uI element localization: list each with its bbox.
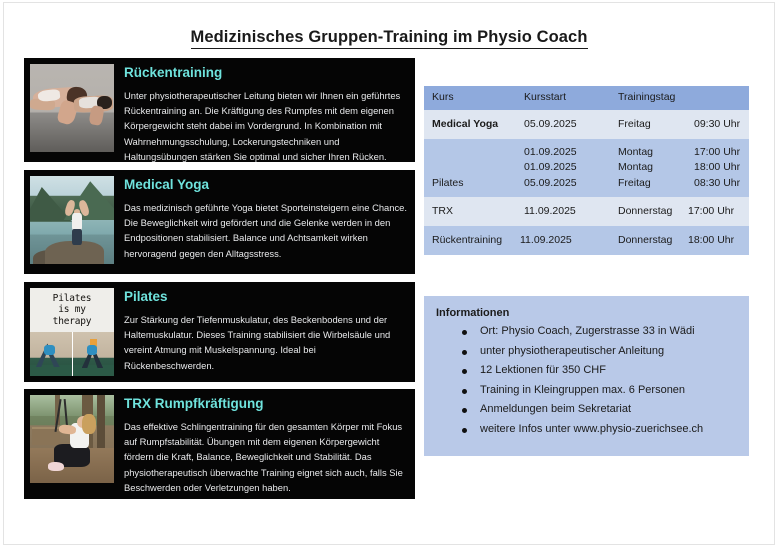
course-description-pilates: Zur Stärkung der Tiefenmuskulatur, des B…	[124, 312, 407, 373]
cell-trainingstag: Donnerstag	[610, 197, 686, 226]
pilates-pose-left	[30, 332, 73, 376]
cell-trainingstag: Donnerstag	[610, 226, 686, 255]
trx-outdoor-training-photo	[30, 395, 114, 483]
cell-kursstart-line: 01.09.2025	[524, 145, 610, 160]
cell-kurs: Rückentraining	[424, 226, 516, 255]
course-schedule-table: Kurs Kursstart Trainingstag Medical Yoga…	[424, 86, 749, 255]
table-header-row: Kurs Kursstart Trainingstag	[424, 86, 749, 110]
table-row: Rückentraining 11.09.2025 Donnerstag 18:…	[424, 226, 749, 255]
course-title-trx: TRX Rumpfkräftigung	[124, 397, 407, 412]
information-list: Ort: Physio Coach, Zugerstrasse 33 in Wä…	[436, 326, 739, 435]
cell-uhrzeit: 17:00 Uhr 18:00 Uhr 08:30 Uhr	[686, 139, 749, 197]
course-card-body: Pilates Zur Stärkung der Tiefenmuskulatu…	[124, 288, 407, 373]
cell-trainingstag: Montag Montag Freitag	[610, 139, 686, 197]
column-header-kursstart: Kursstart	[516, 86, 610, 110]
information-box-title: Informationen	[436, 307, 739, 319]
cell-trainingstag-line: Montag	[618, 145, 686, 160]
cell-uhrzeit: 09:30 Uhr	[686, 110, 749, 139]
course-description-medical-yoga: Das medizinisch geführte Yoga bietet Spo…	[124, 200, 407, 261]
photo-caption-line-3: therapy	[53, 316, 92, 327]
table-row: Pilates 01.09.2025 01.09.2025 05.09.2025…	[424, 139, 749, 197]
cell-trainingstag-line: Montag	[618, 160, 686, 175]
photo-caption-line-2: is my	[58, 304, 86, 315]
pilates-pose-right	[73, 332, 115, 376]
course-card-trx: TRX Rumpfkräftigung Das effektive Schlin…	[24, 389, 415, 499]
cell-kursstart: 05.09.2025	[516, 110, 610, 139]
list-item: Training in Kleingruppen max. 6 Personen	[462, 385, 739, 396]
cell-kursstart: 11.09.2025	[516, 197, 610, 226]
list-item: unter physiotherapeutischer Anleitung	[462, 346, 739, 357]
course-description-rueckentraining: Unter physiotherapeutischer Leitung biet…	[124, 88, 407, 164]
cell-kursstart: 01.09.2025 01.09.2025 05.09.2025	[516, 139, 610, 197]
cell-kurs: TRX	[424, 197, 516, 226]
course-card-rueckentraining: Rückentraining Unter physiotherapeutisch…	[24, 58, 415, 162]
page-title: Medizinisches Gruppen-Training im Physio…	[0, 28, 778, 47]
photo-caption: Pilates is my therapy	[30, 288, 114, 332]
column-header-kurs: Kurs	[424, 86, 516, 110]
cell-kurs: Medical Yoga	[424, 110, 516, 139]
cell-uhrzeit-line: 08:30 Uhr	[694, 176, 749, 191]
yoga-tree-pose-lake-photo	[30, 176, 114, 264]
cell-uhrzeit: 18:00 Uhr	[686, 226, 749, 255]
course-card-body: Medical Yoga Das medizinisch geführte Yo…	[124, 176, 407, 261]
cell-kursstart-line: 05.09.2025	[524, 176, 610, 191]
cell-uhrzeit-line: 17:00 Uhr	[694, 145, 749, 160]
course-card-body: Rückentraining Unter physiotherapeutisch…	[124, 64, 407, 164]
list-item: Ort: Physio Coach, Zugerstrasse 33 in Wä…	[462, 326, 739, 337]
cell-kursstart: 11.09.2025	[516, 226, 610, 255]
cell-kursstart-line: 01.09.2025	[524, 160, 610, 175]
cell-kurs: Pilates	[424, 139, 516, 197]
course-title-pilates: Pilates	[124, 290, 407, 305]
course-description-trx: Das effektive Schlingentraining für den …	[124, 419, 407, 495]
list-item: weitere Infos unter www.physio-zuerichse…	[462, 424, 739, 435]
flyer-page: Medizinisches Gruppen-Training im Physio…	[0, 0, 778, 547]
cell-uhrzeit-line: 18:00 Uhr	[694, 160, 749, 175]
page-title-text: Medizinisches Gruppen-Training im Physio…	[191, 28, 588, 49]
column-header-trainingstag: Trainingstag	[610, 86, 749, 110]
cell-trainingstag-line: Freitag	[618, 176, 686, 191]
list-item: 12 Lektionen für 350 CHF	[462, 365, 739, 376]
course-card-medical-yoga: Medical Yoga Das medizinisch geführte Yo…	[24, 170, 415, 274]
course-card-body: TRX Rumpfkräftigung Das effektive Schlin…	[124, 395, 407, 495]
list-item: Anmeldungen beim Sekretariat	[462, 404, 739, 415]
plank-exercise-photo	[30, 64, 114, 152]
table-row: TRX 11.09.2025 Donnerstag 17:00 Uhr	[424, 197, 749, 226]
photo-caption-line-1: Pilates	[53, 293, 92, 304]
information-box: Informationen Ort: Physio Coach, Zugerst…	[424, 296, 749, 456]
table-row: Medical Yoga 05.09.2025 Freitag 09:30 Uh…	[424, 110, 749, 139]
course-title-rueckentraining: Rückentraining	[124, 66, 407, 81]
course-title-medical-yoga: Medical Yoga	[124, 178, 407, 193]
cell-uhrzeit: 17:00 Uhr	[686, 197, 749, 226]
cell-trainingstag: Freitag	[610, 110, 686, 139]
pilates-is-my-therapy-photo: Pilates is my therapy	[30, 288, 114, 376]
course-card-pilates: Pilates is my therapy Pilates	[24, 282, 415, 382]
